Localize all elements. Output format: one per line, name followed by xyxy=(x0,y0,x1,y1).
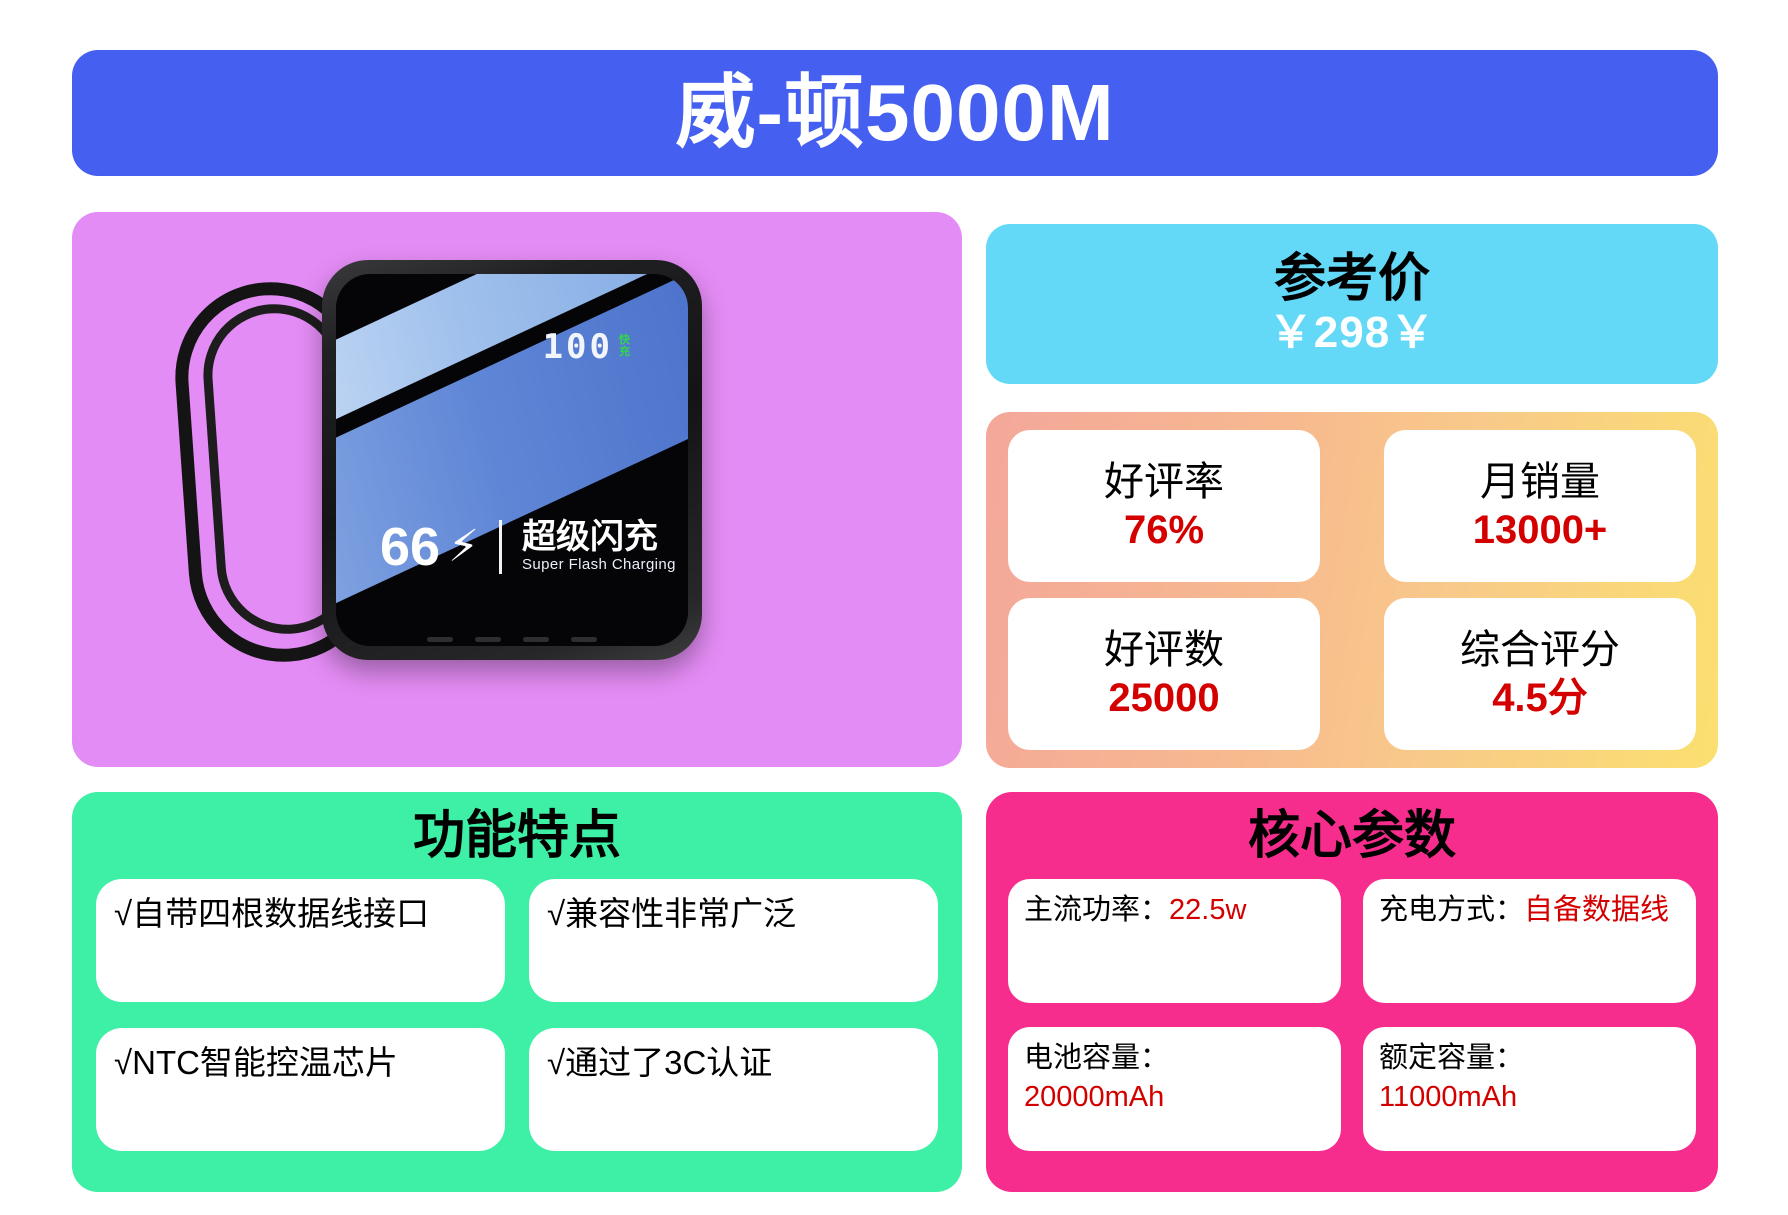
branding-divider xyxy=(499,520,502,574)
feature-card: √通过了3C认证 xyxy=(529,1028,938,1151)
fast-charge-badge: 快 充 xyxy=(619,335,630,358)
param-key: 额定容量： xyxy=(1379,1042,1524,1074)
fast-charge-badge-line2: 充 xyxy=(619,347,630,359)
stat-value: 76% xyxy=(1124,507,1204,553)
reference-price-card: 参考价 ￥298￥ xyxy=(986,224,1718,384)
battery-level-display: 100 快 充 xyxy=(543,330,630,364)
param-key: 电池容量： xyxy=(1024,1042,1169,1074)
port-row xyxy=(427,637,597,642)
port-slot xyxy=(475,637,501,642)
param-key: 主流功率： xyxy=(1024,894,1169,926)
wattage-number: 66 xyxy=(380,520,440,574)
param-card-power: 主流功率：22.5w xyxy=(1008,879,1341,1003)
feature-card: √NTC智能控温芯片 xyxy=(96,1028,505,1151)
stats-panel: 好评率 76% 月销量 13000+ 好评数 25000 综合评分 4.5分 xyxy=(986,412,1718,768)
stat-value: 13000+ xyxy=(1473,507,1608,553)
charging-label-cn: 超级闪充 xyxy=(522,518,658,556)
page-title: 威-顿5000M xyxy=(675,73,1114,153)
lightning-bolt-icon: ⚡ xyxy=(448,525,479,569)
stat-label: 好评数 xyxy=(1104,627,1224,673)
param-value: 22.5w xyxy=(1169,894,1246,926)
feature-card: √自带四根数据线接口 xyxy=(96,879,505,1002)
stat-card-overall-score: 综合评分 4.5分 xyxy=(1384,598,1696,750)
reference-price-value: ￥298￥ xyxy=(1269,310,1435,356)
stat-label: 综合评分 xyxy=(1460,627,1620,673)
port-slot xyxy=(523,637,549,642)
power-bank-body: 100 快 充 66 ⚡ 超级闪充 Super Flash Charging xyxy=(322,260,702,660)
product-image-panel: 100 快 充 66 ⚡ 超级闪充 Super Flash Charging xyxy=(72,212,962,767)
port-slot xyxy=(571,637,597,642)
features-grid: √自带四根数据线接口 √兼容性非常广泛 √NTC智能控温芯片 √通过了3C认证 xyxy=(96,879,938,1151)
stat-card-rating-rate: 好评率 76% xyxy=(1008,430,1320,582)
stat-label: 好评率 xyxy=(1104,459,1224,505)
stat-card-monthly-sales: 月销量 13000+ xyxy=(1384,430,1696,582)
core-params-heading: 核心参数 xyxy=(1008,808,1696,865)
core-params-grid: 主流功率：22.5w 充电方式：自备数据线 电池容量：20000mAh 额定容量… xyxy=(1008,879,1696,1151)
battery-percent-digits: 100 xyxy=(543,330,613,364)
stat-value: 4.5分 xyxy=(1492,675,1588,721)
core-params-panel: 核心参数 主流功率：22.5w 充电方式：自备数据线 电池容量：20000mAh… xyxy=(986,792,1718,1192)
power-bank-face: 100 快 充 66 ⚡ 超级闪充 Super Flash Charging xyxy=(336,274,688,646)
param-key: 充电方式： xyxy=(1379,894,1524,926)
param-card-charging-method: 充电方式：自备数据线 xyxy=(1363,879,1696,1003)
features-heading: 功能特点 xyxy=(96,808,938,865)
param-card-rated-capacity: 额定容量：11000mAh xyxy=(1363,1027,1696,1151)
reference-price-label: 参考价 xyxy=(1274,252,1430,307)
param-card-battery-capacity: 电池容量：20000mAh xyxy=(1008,1027,1341,1151)
fast-charge-branding: 66 ⚡ 超级闪充 Super Flash Charging xyxy=(380,520,676,574)
stat-label: 月销量 xyxy=(1480,459,1600,505)
features-panel: 功能特点 √自带四根数据线接口 √兼容性非常广泛 √NTC智能控温芯片 √通过了… xyxy=(72,792,962,1192)
param-value: 11000mAh xyxy=(1379,1081,1517,1113)
product-infographic-page: 威-顿5000M 100 快 充 66 xyxy=(0,0,1788,1215)
charging-label-en: Super Flash Charging xyxy=(522,556,676,573)
charging-label-block: 超级闪充 Super Flash Charging xyxy=(522,520,676,574)
port-slot xyxy=(427,637,453,642)
param-value: 自备数据线 xyxy=(1524,894,1669,926)
param-value: 20000mAh xyxy=(1024,1081,1164,1113)
stat-card-review-count: 好评数 25000 xyxy=(1008,598,1320,750)
title-banner: 威-顿5000M xyxy=(72,50,1718,176)
stat-value: 25000 xyxy=(1108,675,1219,721)
power-bank-illustration: 100 快 充 66 ⚡ 超级闪充 Super Flash Charging xyxy=(322,260,712,700)
feature-card: √兼容性非常广泛 xyxy=(529,879,938,1002)
